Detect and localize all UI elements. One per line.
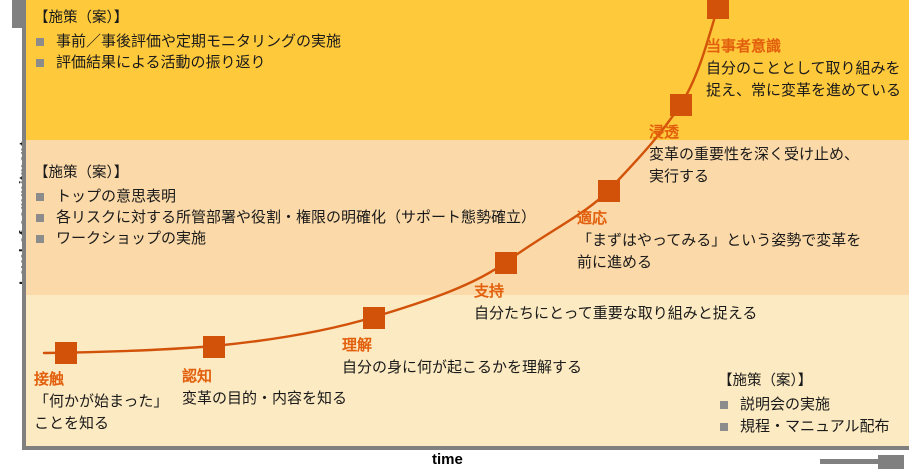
stage-label-adaptation: 適応 「まずはやってみる」という姿勢で変革を 前に進める	[577, 207, 861, 274]
arrow-right-head	[878, 455, 904, 469]
stage-label-contact: 接触 「何かが始まった」 ことを知る	[34, 368, 168, 435]
stage-desc-line: 変革の重要性を深く受け止め、	[649, 144, 859, 166]
stage-desc-line: 「まずはやってみる」という姿勢で変革を	[577, 230, 861, 252]
stage-label-understanding: 理解 自分の身に何が起こるかを理解する	[342, 334, 582, 379]
arrow-right-icon	[820, 455, 904, 469]
stage-desc-line: 実行する	[649, 166, 859, 188]
arrow-right-shaft	[820, 459, 882, 464]
stage-marker-support[interactable]	[495, 252, 517, 274]
stage-desc-line: 自分たちにとって重要な取り組みと捉える	[474, 303, 757, 325]
stage-label-awareness: 認知 変革の目的・内容を知る	[182, 365, 347, 410]
stage-name: 接触	[34, 368, 168, 389]
stage-name: 認知	[182, 365, 347, 386]
x-axis-label: time	[432, 452, 463, 467]
stage-name: 浸透	[649, 121, 859, 142]
stage-desc-line: 前に進める	[577, 252, 861, 274]
stage-desc-line: 自分の身に何が起こるかを理解する	[342, 357, 582, 379]
stage-name: 支持	[474, 280, 757, 301]
stage-label-penetration: 浸透 変革の重要性を深く受け止め、 実行する	[649, 121, 859, 188]
diagram-root: Level of commitment 【施策（案）】 事前／事後評価や定期モニ…	[0, 0, 909, 468]
stage-marker-awareness[interactable]	[203, 336, 225, 358]
stage-desc-line: 変革の目的・内容を知る	[182, 388, 347, 410]
stage-desc-line: 「何かが始まった」	[34, 391, 168, 413]
stage-marker-adaptation[interactable]	[598, 180, 620, 202]
stage-marker-understanding[interactable]	[363, 307, 385, 329]
stage-desc-line: ことを知る	[34, 413, 168, 435]
stage-marker-contact[interactable]	[55, 342, 77, 364]
plot-area: 【施策（案）】 事前／事後評価や定期モニタリングの実施 評価結果による活動の振り…	[22, 0, 909, 450]
stage-label-support: 支持 自分たちにとって重要な取り組みと捉える	[474, 280, 757, 325]
stage-label-ownership: 当事者意識 自分のこととして取り組みを 捉え、常に変革を進めている	[706, 35, 901, 102]
stage-marker-penetration[interactable]	[670, 94, 692, 116]
stage-desc-line: 自分のこととして取り組みを	[706, 58, 901, 80]
stage-name: 理解	[342, 334, 582, 355]
stage-desc-line: 捉え、常に変革を進めている	[706, 80, 901, 102]
stage-name: 適応	[577, 207, 861, 228]
stage-name: 当事者意識	[706, 35, 901, 56]
stage-marker-ownership[interactable]	[707, 0, 729, 19]
